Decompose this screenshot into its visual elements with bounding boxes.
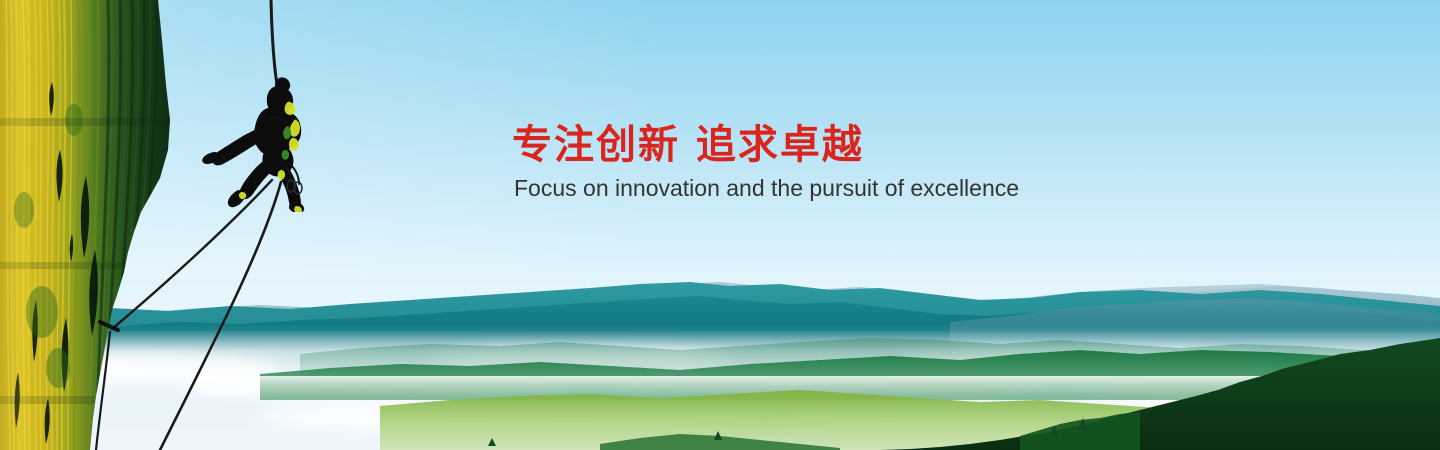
page-subtitle: Focus on innovation and the pursuit of e… bbox=[514, 174, 1132, 202]
page-title: 专注创新 追求卓越 bbox=[512, 122, 1132, 168]
rock-climber bbox=[190, 62, 340, 212]
hero-banner: 专注创新 追求卓越 Focus on innovation and the pu… bbox=[0, 0, 1440, 450]
anchor-rope-tail bbox=[96, 332, 110, 450]
belay-rope bbox=[160, 182, 281, 450]
banner-copy: 专注创新 追求卓越 Focus on innovation and the pu… bbox=[512, 122, 1132, 202]
